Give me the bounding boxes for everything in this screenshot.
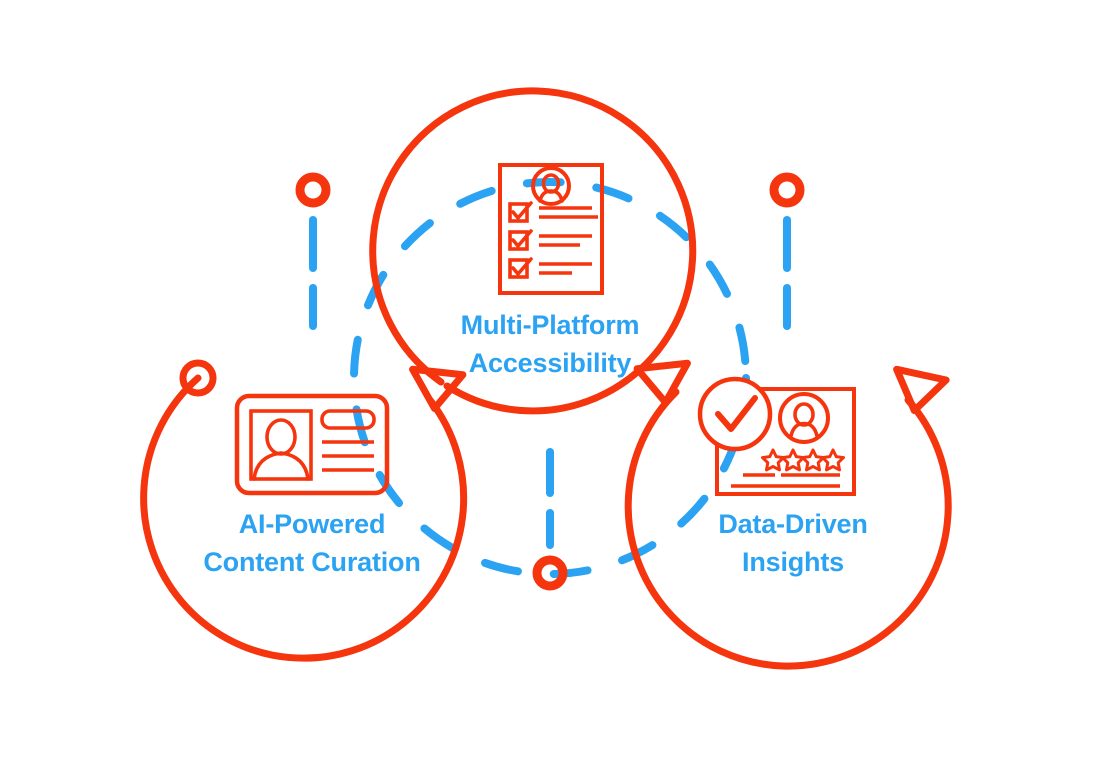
rating-stars: [763, 450, 844, 470]
verified-badge-icon: [700, 379, 770, 449]
node-multi-platform-label-line2: Accessibility: [469, 348, 632, 378]
checklist-row: [510, 259, 592, 277]
id-card-pill-field: [322, 411, 374, 428]
arrow-into-data-driven-icon: [635, 341, 696, 403]
id-card-person-head-icon: [267, 420, 295, 454]
verified-review-card-icon: [700, 379, 854, 494]
node-multi-platform-label-line1: Multi-Platform: [461, 310, 640, 340]
review-card-avatar-icon: [780, 394, 828, 442]
checklist-row: [510, 231, 592, 249]
node-ai-powered-label-line1: AI-Powered: [239, 509, 386, 539]
marker-top-left-ring-icon: [300, 177, 326, 203]
node-data-driven-label-line2: Insights: [742, 547, 844, 577]
star-icon: [823, 450, 844, 470]
arrow-out-of-data-driven-icon: [887, 349, 948, 410]
id-card-person-body-icon: [254, 453, 308, 479]
node-ai-powered[interactable]: AI-Powered Content Curation: [144, 378, 464, 658]
node-ai-powered-label-line2: Content Curation: [203, 547, 420, 577]
star-icon: [763, 450, 784, 470]
cycle-diagram: Multi-Platform Accessibility AI-Powered: [0, 0, 1100, 772]
review-card-avatar-silhouette: [791, 404, 817, 436]
node-data-driven[interactable]: Data-Driven Insights: [628, 341, 948, 666]
marker-top-right-ring-icon: [774, 177, 800, 203]
star-icon: [783, 450, 804, 470]
diagram-canvas: Multi-Platform Accessibility AI-Powered: [0, 0, 1100, 772]
node-data-driven-label-line1: Data-Driven: [718, 509, 867, 539]
node-multi-platform[interactable]: Multi-Platform Accessibility: [373, 91, 693, 411]
star-icon: [803, 450, 824, 470]
